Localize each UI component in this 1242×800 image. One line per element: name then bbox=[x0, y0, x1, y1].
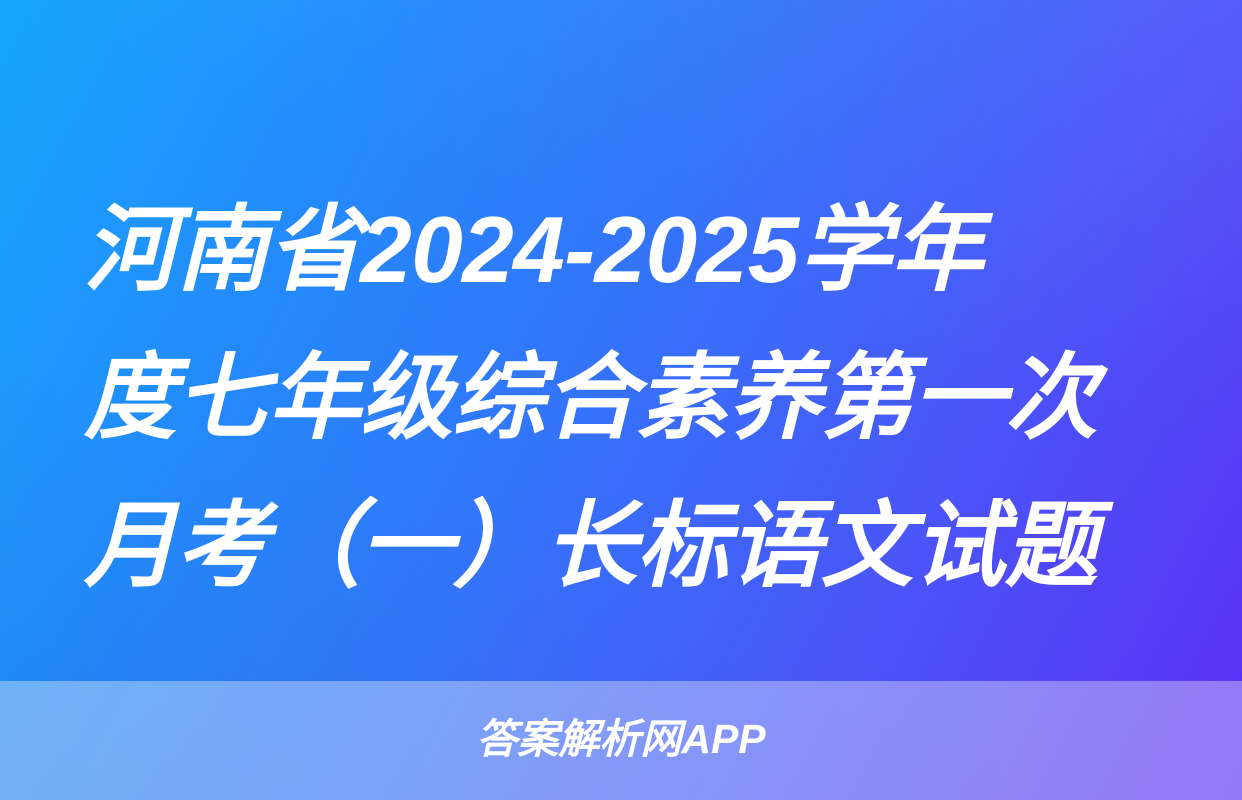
exam-title-block: 河南省2024-2025学年 度七年级综合素养第一次 月考（一）长标语文试题 bbox=[84, 176, 1174, 620]
exam-title-line-3: 月考（一）长标语文试题 bbox=[84, 472, 1158, 620]
exam-cover-card: 河南省2024-2025学年 度七年级综合素养第一次 月考（一）长标语文试题 答… bbox=[0, 0, 1242, 800]
footer-inner: 答案解析网APP bbox=[0, 681, 1242, 800]
exam-title-line-2: 度七年级综合素养第一次 bbox=[84, 324, 1158, 472]
footer-watermark-band: 答案解析网APP bbox=[0, 681, 1242, 800]
app-watermark-label: 答案解析网APP bbox=[476, 719, 765, 760]
exam-title-line-1: 河南省2024-2025学年 bbox=[84, 176, 1158, 324]
